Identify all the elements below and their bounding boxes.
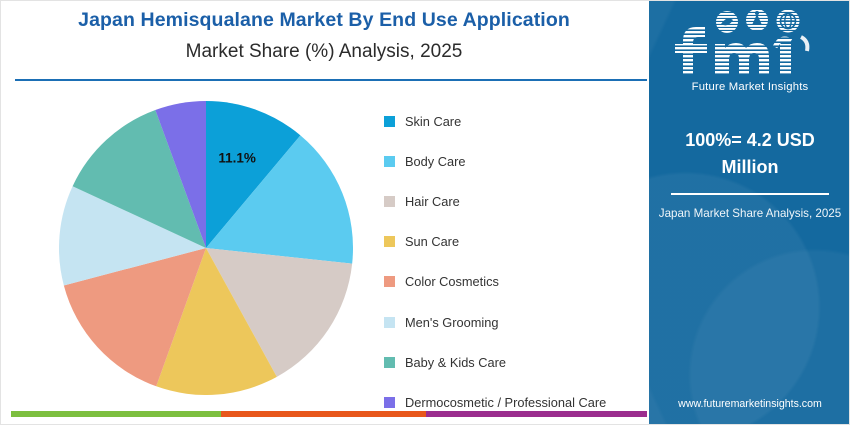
title-divider: [15, 79, 647, 81]
legend-item[interactable]: Men's Grooming: [384, 302, 642, 342]
panel-caption: Japan Market Share Analysis, 2025: [655, 207, 845, 220]
pie-data-labels: 11.1%: [218, 150, 256, 165]
legend-item-label: Skin Care: [405, 114, 461, 129]
page-title: Japan Hemisqualane Market By End Use App…: [1, 1, 647, 32]
footer-strip-orange: [221, 411, 426, 417]
pie-chart-svg: 11.1%: [59, 101, 353, 395]
logo-icon-person: [746, 9, 768, 31]
logo-letter-f: [675, 27, 707, 75]
infographic-canvas: Japan Hemisqualane Market By End Use App…: [0, 0, 850, 425]
footer-strip-purple: [426, 411, 647, 417]
legend-item-label: Hair Care: [405, 194, 460, 209]
chart-legend: Skin CareBody CareHair CareSun CareColor…: [384, 101, 642, 423]
legend-item-label: Color Cosmetics: [405, 274, 499, 289]
legend-item[interactable]: Body Care: [384, 141, 642, 181]
footer-strip-green: [11, 411, 221, 417]
pie-chart: 11.1%: [59, 101, 353, 395]
pie-slice-label: 11.1%: [218, 150, 256, 165]
pie-slices: [59, 101, 353, 395]
legend-item[interactable]: Baby & Kids Care: [384, 342, 642, 382]
logo-letter-i: [775, 37, 807, 75]
legend-item[interactable]: Color Cosmetics: [384, 262, 642, 302]
page-subtitle: Market Share (%) Analysis, 2025: [1, 32, 647, 63]
legend-swatch-icon: [384, 276, 395, 287]
legend-item[interactable]: Sun Care: [384, 222, 642, 262]
legend-item-label: Sun Care: [405, 234, 459, 249]
logo-icon-leaf: [716, 11, 738, 33]
chart-panel: Japan Hemisqualane Market By End Use App…: [1, 1, 647, 425]
website-url[interactable]: www.futuremarketinsights.com: [649, 398, 850, 410]
title-block: Japan Hemisqualane Market By End Use App…: [1, 1, 647, 79]
fmi-logo-tagline: Future Market Insights: [649, 81, 850, 93]
market-value-headline: 100%= 4.2 USD Million: [659, 127, 841, 181]
legend-swatch-icon: [384, 156, 395, 167]
legend-item-label: Dermocosmetic / Professional Care: [405, 395, 606, 410]
legend-swatch-icon: [384, 196, 395, 207]
logo-letter-m: [715, 43, 769, 75]
legend-swatch-icon: [384, 357, 395, 368]
legend-swatch-icon: [384, 236, 395, 247]
fmi-logo: Future Market Insights: [649, 7, 850, 103]
brand-panel: Future Market Insights 100%= 4.2 USD Mil…: [649, 1, 850, 425]
legend-swatch-icon: [384, 317, 395, 328]
panel-divider: [671, 193, 829, 195]
legend-item[interactable]: Hair Care: [384, 181, 642, 221]
legend-item[interactable]: Skin Care: [384, 101, 642, 141]
legend-swatch-icon: [384, 116, 395, 127]
fmi-logo-mark: [665, 7, 835, 79]
legend-item-label: Baby & Kids Care: [405, 355, 506, 370]
legend-item-label: Body Care: [405, 154, 465, 169]
legend-swatch-icon: [384, 397, 395, 408]
legend-item-label: Men's Grooming: [405, 315, 498, 330]
logo-icon-globe: [777, 10, 800, 33]
